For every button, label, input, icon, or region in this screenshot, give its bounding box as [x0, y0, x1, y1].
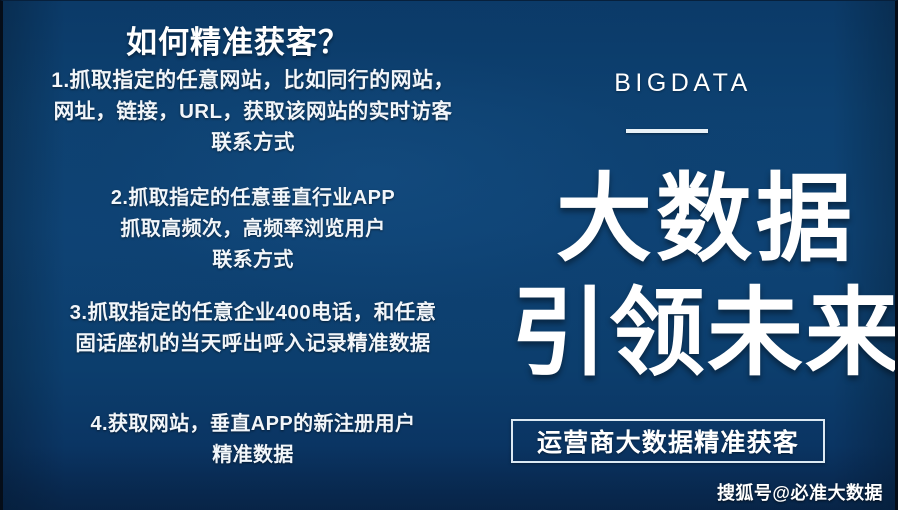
list-item: 4.获取网站，垂直APP的新注册用户 精准数据 — [3, 409, 503, 471]
divider — [626, 129, 708, 133]
bullet-2-line-3: 联系方式 — [3, 245, 503, 276]
brand-headline-line-1: 大数据 — [511, 169, 898, 271]
tagline-label: 运营商大数据精准获客 — [537, 423, 799, 459]
brand-headline-line-2: 引领未来 — [511, 283, 898, 385]
bullet-2-line-1: 2.抓取指定的任意垂直行业APP — [3, 183, 503, 214]
bullet-1-line-2: 网址，链接，URL，获取该网站的实时访客 — [3, 96, 503, 127]
bullet-3-line-1: 3.抓取指定的任意企业400电话，和任意 — [3, 297, 503, 328]
bullet-4-line-2: 精准数据 — [3, 440, 503, 471]
brand-eyebrow-label: BIGDATA — [503, 69, 863, 98]
bullet-2-line-2: 抓取高频次，高频率浏览用户 — [3, 214, 503, 245]
bullet-1-line-1: 1.抓取指定的任意网站，比如同行的网站， — [3, 65, 503, 96]
right-branding-column: BIGDATA 大数据 引领未来 运营商大数据精准获客 — [503, 1, 898, 510]
list-item: 2.抓取指定的任意垂直行业APP 抓取高频次，高频率浏览用户 联系方式 — [3, 183, 503, 276]
watermark-label: 搜狐号@必准大数据 — [717, 479, 883, 505]
bullet-4-line-1: 4.获取网站，垂直APP的新注册用户 — [3, 409, 503, 440]
tagline-box: 运营商大数据精准获客 — [511, 419, 825, 463]
poster-content-layer: 如何精准获客？ 1.抓取指定的任意网站，比如同行的网站， 网址，链接，URL，获… — [3, 1, 895, 510]
poster-canvas: 如何精准获客？ 1.抓取指定的任意网站，比如同行的网站， 网址，链接，URL，获… — [0, 0, 898, 510]
list-item: 1.抓取指定的任意网站，比如同行的网站， 网址，链接，URL，获取该网站的实时访… — [3, 65, 503, 158]
page-title: 如何精准获客？ — [3, 17, 473, 62]
list-item: 3.抓取指定的任意企业400电话，和任意 固话座机的当天呼出呼入记录精准数据 — [3, 297, 503, 359]
bullet-3-line-2: 固话座机的当天呼出呼入记录精准数据 — [3, 328, 503, 359]
bullet-1-line-3: 联系方式 — [3, 127, 503, 158]
left-content-column: 如何精准获客？ 1.抓取指定的任意网站，比如同行的网站， 网址，链接，URL，获… — [3, 1, 503, 510]
